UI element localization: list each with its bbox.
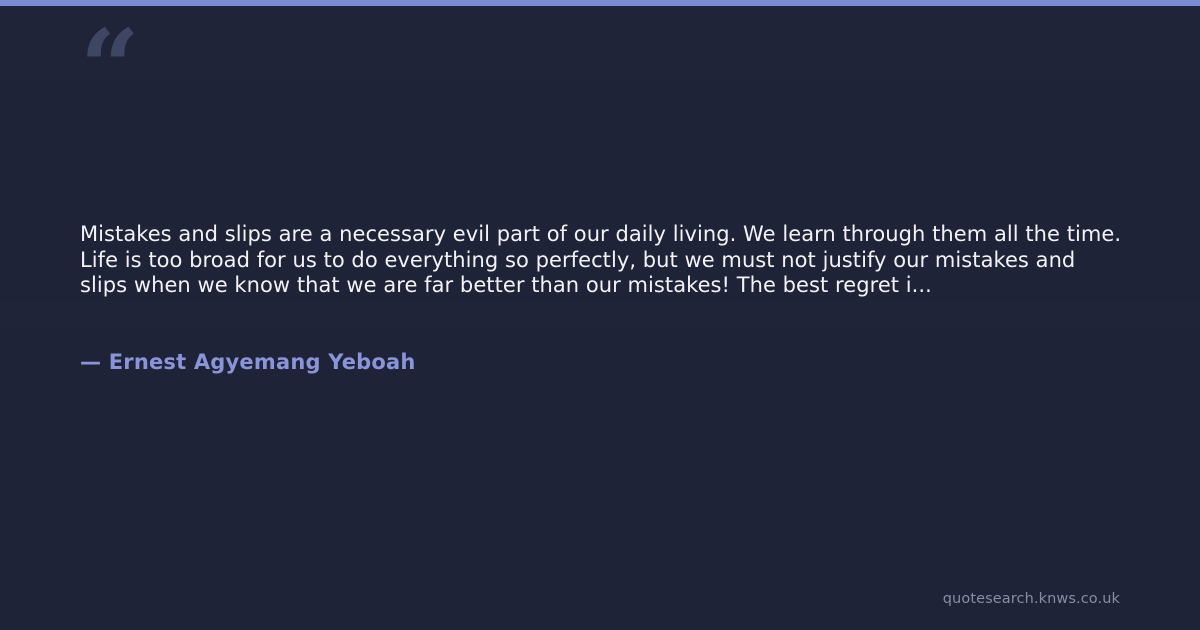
quote-card: “ Mistakes and slips are a necessary evi…	[0, 0, 1200, 630]
site-url-label: quotesearch.knws.co.uk	[943, 590, 1120, 608]
quote-text: Mistakes and slips are a necessary evil …	[80, 222, 1122, 299]
quote-open-icon: “	[80, 16, 140, 86]
quote-content: Mistakes and slips are a necessary evil …	[80, 222, 1122, 375]
top-accent-bar	[0, 0, 1200, 6]
background-band-upper	[0, 6, 1200, 81]
quote-author: — Ernest Agyemang Yeboah	[80, 299, 1122, 375]
